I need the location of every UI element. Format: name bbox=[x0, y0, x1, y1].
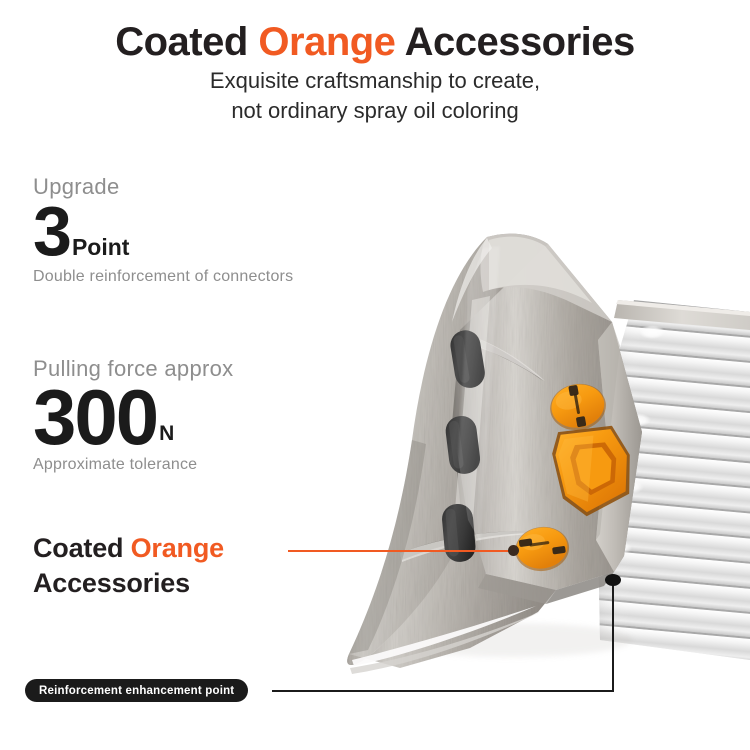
title-pre: Coated bbox=[115, 20, 258, 64]
callout-label: Reinforcement enhancement point bbox=[39, 685, 234, 697]
subtitle-line-1: Exquisite craftsmanship to create, bbox=[0, 66, 750, 96]
callout-pill: Reinforcement enhancement point bbox=[25, 679, 248, 702]
coated-label-line-2: Accessories bbox=[33, 566, 224, 601]
callout-endpoint-dot bbox=[605, 574, 621, 586]
orange-disc-bottom bbox=[512, 523, 572, 574]
orange-leader-line bbox=[288, 550, 514, 552]
band-top-rail bbox=[614, 300, 750, 330]
grip-pads bbox=[441, 328, 487, 563]
orange-button bbox=[548, 420, 639, 521]
callout-horizontal-line bbox=[272, 690, 614, 692]
title-accent: Orange bbox=[258, 20, 395, 64]
orange-hardware bbox=[512, 379, 639, 574]
spec-block-pulling-force: Pulling force approx 300 N Approximate t… bbox=[33, 358, 233, 474]
coated-label-pre: Coated bbox=[33, 533, 131, 563]
spec-caption: Upgrade bbox=[33, 176, 293, 198]
callout-vertical-line bbox=[612, 583, 614, 692]
coated-label-line-1: Coated Orange bbox=[33, 531, 224, 566]
coated-label-accent: Orange bbox=[131, 533, 224, 563]
spec-unit: Point bbox=[72, 238, 130, 262]
spec-value: 300 bbox=[33, 384, 157, 450]
spec-value: 3 bbox=[33, 202, 70, 262]
coated-orange-label: Coated Orange Accessories bbox=[33, 531, 224, 601]
orange-disc-top bbox=[546, 379, 609, 434]
spec-description: Approximate tolerance bbox=[33, 456, 233, 474]
page-subtitle: Exquisite craftsmanship to create, not o… bbox=[0, 66, 750, 125]
product-marketing-image: Coated Orange Accessories Exquisite craf… bbox=[0, 0, 750, 750]
spec-value-row: 300 N bbox=[33, 384, 233, 450]
orange-leader-dot bbox=[508, 545, 519, 556]
watch-band bbox=[561, 274, 750, 688]
spec-unit: N bbox=[159, 425, 174, 450]
page-title: Coated Orange Accessories bbox=[0, 20, 750, 64]
title-post: Accessories bbox=[395, 20, 634, 64]
spec-description: Double reinforcement of connectors bbox=[33, 268, 293, 286]
spec-value-row: 3 Point bbox=[33, 202, 293, 262]
spec-block-upgrade: Upgrade 3 Point Double reinforcement of … bbox=[33, 176, 293, 286]
subtitle-line-2: not ordinary spray oil coloring bbox=[0, 96, 750, 126]
clasp-body bbox=[347, 234, 642, 674]
